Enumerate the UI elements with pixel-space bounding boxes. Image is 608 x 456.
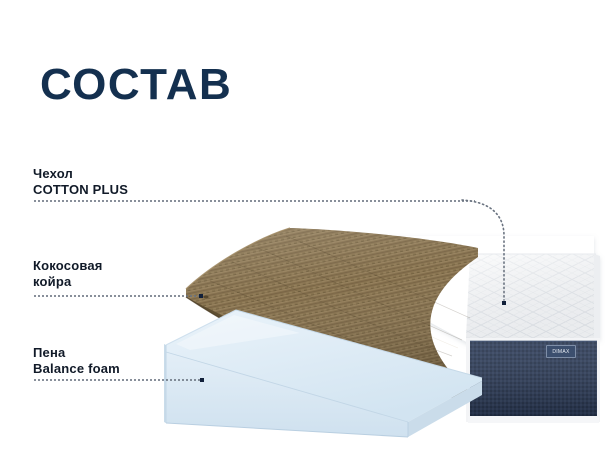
infographic-canvas: Чехол COTTON PLUS Кокосовая койра Пена B… bbox=[0, 0, 608, 456]
label-coir-line1: Кокосовая bbox=[33, 258, 103, 274]
label-cover-line1: Чехол bbox=[33, 166, 128, 182]
page-title: СОСТАВ bbox=[40, 63, 232, 107]
side-fabric-panel bbox=[470, 341, 597, 416]
cover-piping bbox=[468, 416, 599, 423]
leader-line-cover bbox=[33, 200, 475, 202]
leader-foam-dots bbox=[33, 379, 200, 381]
label-foam-line1: Пена bbox=[33, 345, 120, 361]
label-coir-line2: койра bbox=[33, 274, 103, 290]
label-coir: Кокосовая койра bbox=[33, 258, 103, 290]
leader-line-foam bbox=[33, 379, 200, 381]
label-foam-line2: Balance foam bbox=[33, 361, 120, 377]
brand-tag: DIMAX bbox=[546, 345, 576, 358]
leader-endpoint-coir bbox=[199, 294, 203, 298]
leader-endpoint-foam bbox=[200, 378, 204, 382]
label-cover-line2: COTTON PLUS bbox=[33, 182, 128, 198]
label-foam: Пена Balance foam bbox=[33, 345, 120, 377]
leader-coir-dots bbox=[33, 295, 201, 297]
label-cover: Чехол COTTON PLUS bbox=[33, 166, 128, 198]
leader-endpoint-cover bbox=[502, 301, 506, 305]
leader-line-coir bbox=[33, 295, 201, 297]
leader-cover-dots bbox=[33, 200, 475, 202]
